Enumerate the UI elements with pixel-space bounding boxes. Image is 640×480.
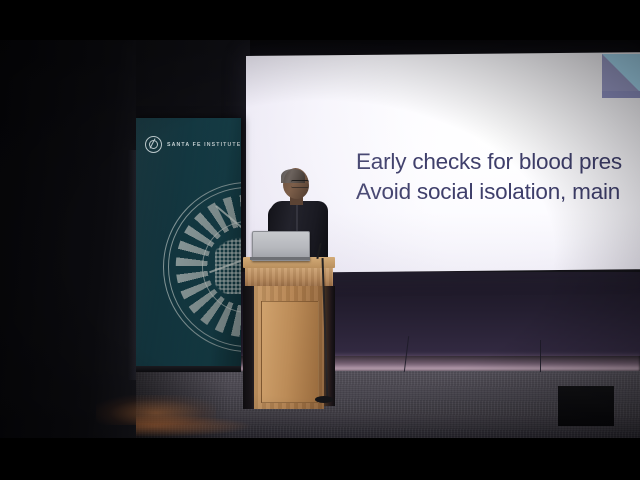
slide-line-1: Early checks for blood pres bbox=[356, 147, 640, 177]
triangle-mark-base-icon bbox=[602, 91, 640, 98]
stage-left-masking-flat bbox=[0, 40, 136, 438]
santa-fe-institute-banner: SANTA FE INSTITUTE bbox=[133, 118, 241, 366]
stage-photo: Early checks for blood pres Avoid social… bbox=[0, 0, 640, 480]
letterbox-bottom bbox=[0, 438, 640, 480]
banner-base-stand bbox=[133, 366, 241, 372]
slide-body-text: Early checks for blood pres Avoid social… bbox=[356, 147, 640, 207]
cable-coil bbox=[315, 396, 333, 403]
letterbox-top bbox=[0, 0, 640, 40]
laptop-hinge bbox=[250, 257, 310, 260]
stage-monitor-icon bbox=[558, 386, 614, 426]
triangle-mark-icon bbox=[602, 54, 640, 92]
speaker-glasses-icon bbox=[291, 180, 309, 188]
banner-light-sheen bbox=[133, 118, 241, 366]
stage-stand-pole-right bbox=[540, 340, 541, 372]
stage-left-flat-edge bbox=[128, 150, 136, 380]
podium-lip bbox=[245, 268, 333, 286]
wooden-podium bbox=[243, 257, 335, 409]
stage-floor-lamp-glow bbox=[96, 395, 216, 425]
slide-corner-logo bbox=[602, 54, 640, 98]
slide-line-2: Avoid social isolation, main bbox=[356, 177, 640, 207]
podium-front-panel bbox=[261, 301, 319, 403]
